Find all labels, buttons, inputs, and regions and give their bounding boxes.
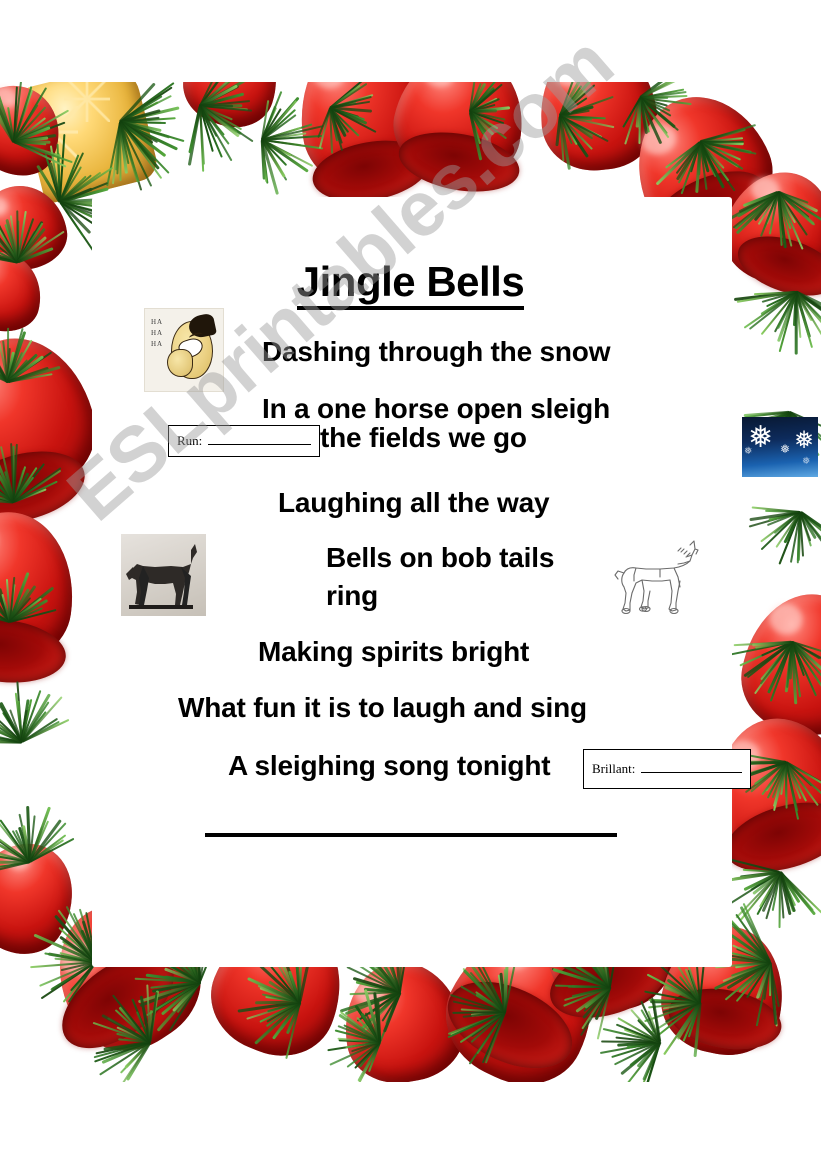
laughing-man-ha-text: HA HA HA xyxy=(151,317,163,350)
worksheet-page: Jingle Bells Dashing through the snow In… xyxy=(0,0,821,1169)
brillant-word-box[interactable]: Brillant: xyxy=(583,749,751,789)
ha-text-2: HA xyxy=(151,328,163,339)
lyric-line-4: Laughing all the way xyxy=(278,487,549,519)
lyric-line-1: Dashing through the snow xyxy=(262,336,610,368)
lyric-line-7: Making spirits bright xyxy=(258,636,529,668)
run-word-box[interactable]: Run: xyxy=(168,425,320,457)
ha-text-1: HA xyxy=(151,317,163,328)
page-title: Jingle Bells xyxy=(0,258,821,306)
snowflake-icon: ❅ xyxy=(802,457,810,467)
brillant-word-box-blank[interactable] xyxy=(641,762,742,773)
laughing-man-hand xyxy=(167,349,193,377)
run-word-box-blank[interactable] xyxy=(208,434,311,445)
lyric-line-3: the fields we go xyxy=(320,422,527,454)
lyric-line-6: ring xyxy=(326,580,378,612)
lyric-line-8: What fun it is to laugh and sing xyxy=(178,692,587,724)
snowflake-image: ❅ ❅ ❅ ❅ ❅ xyxy=(742,417,818,477)
page-title-text: Jingle Bells xyxy=(297,258,524,310)
horse-line-drawing-image xyxy=(612,537,704,623)
ha-text-3: HA xyxy=(151,339,163,350)
horse-line-drawing-svg xyxy=(612,537,704,623)
lyric-line-5: Bells on bob tails xyxy=(326,542,554,574)
run-word-box-label: Run: xyxy=(177,433,202,449)
brillant-word-box-label: Brillant: xyxy=(592,761,635,777)
lyric-line-9: A sleighing song tonight xyxy=(228,750,550,782)
snowflake-icon: ❅ xyxy=(794,429,814,453)
lyric-line-2: In a one horse open sleigh xyxy=(262,393,610,425)
gold-sparkle-icon xyxy=(64,82,110,122)
laughing-man-image: HA HA HA xyxy=(144,308,224,392)
snowflake-icon: ❅ xyxy=(780,443,790,455)
horse-photo-image xyxy=(121,534,206,616)
answer-line-divider xyxy=(205,833,617,837)
snowflake-icon: ❅ xyxy=(744,447,752,457)
horse-photo-silhouette xyxy=(121,534,206,616)
